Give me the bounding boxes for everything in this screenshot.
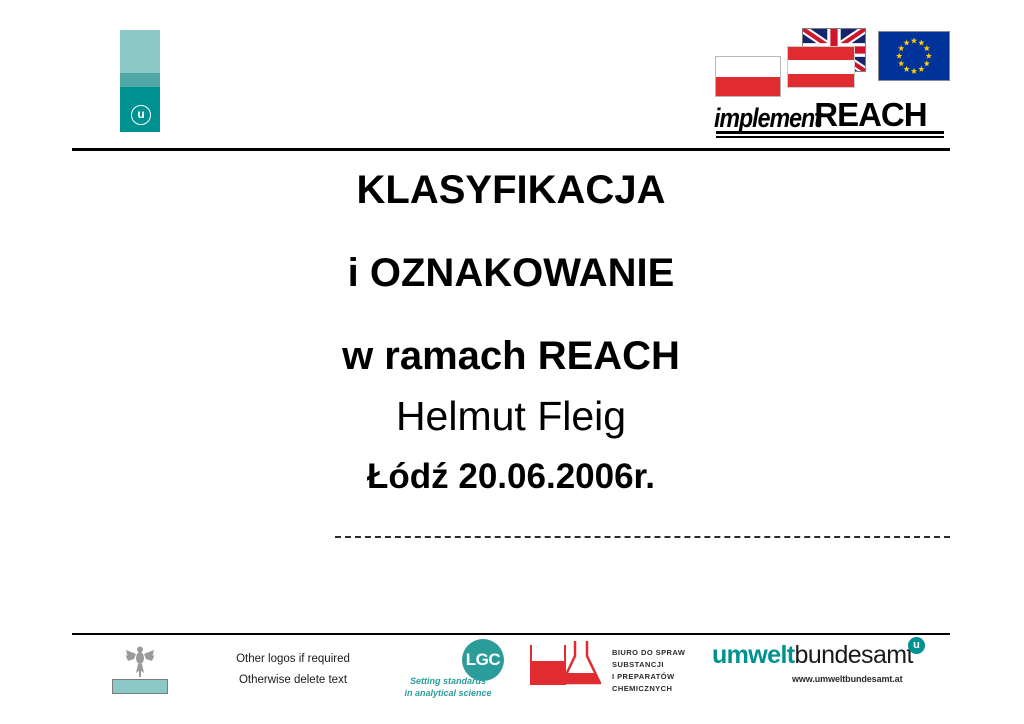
umweltbundesamt-logo-mark: u (120, 30, 160, 132)
biuro-line-1: Biuro do Spraw (612, 647, 722, 659)
uba-badge-icon: u (908, 637, 925, 654)
eagle-svg (125, 645, 155, 679)
slide-title-block: KLASYFIKACJA i OZNAKOWANIE w ramach REAC… (72, 156, 950, 494)
logo-u-badge-icon: u (131, 105, 151, 125)
implement-reach-wordmark: implementREACH (714, 96, 946, 138)
lgc-tagline-line-1: Setting standards (400, 675, 496, 687)
lgc-tagline: Setting standards in analytical science (400, 675, 496, 699)
biuro-logo: Biuro do Spraw Substancji i Preparatów c… (528, 639, 718, 697)
umweltbundesamt-footer-logo: umweltbundesamt u www.umweltbundesamt.at (712, 641, 942, 695)
dashed-separator (335, 536, 950, 538)
biuro-name: Biuro do Spraw Substancji i Preparatów c… (612, 647, 722, 696)
austria-flag-icon (787, 46, 855, 88)
placeholder-line-1: Other logos if required (218, 649, 368, 670)
logo-band-mid (120, 73, 160, 87)
uba-website-url: www.umweltbundesamt.at (792, 674, 902, 684)
eu-flag-icon (878, 31, 950, 81)
title-line-1: KLASYFIKACJA (72, 156, 950, 210)
flask-svg (558, 639, 604, 687)
placeholder-note: Other logos if required Otherwise delete… (218, 649, 368, 692)
eu-flag-svg (879, 32, 949, 80)
lgc-logo: LGC Setting standards in analytical scie… (400, 639, 520, 697)
uba-word-bundesamt: bundesamt (795, 641, 913, 669)
wordmark-underline-upper (716, 131, 944, 134)
austria-emblem-bar (112, 679, 168, 694)
slide-header: u implementREACH (0, 0, 1024, 152)
placeholder-line-2: Otherwise delete text (218, 670, 368, 691)
flask-icon (558, 639, 604, 687)
title-line-3: w ramach REACH (72, 293, 950, 376)
title-line-2: i OZNAKOWANIE (72, 210, 950, 293)
presenter-name: Helmut Fleig (72, 376, 950, 437)
wordmark-implement: implement (714, 103, 821, 134)
poland-flag-red-band (716, 77, 780, 97)
logo-band-light (120, 30, 160, 73)
austria-flag-bottom-band (788, 74, 854, 87)
austria-eagle-icon (124, 645, 156, 679)
lgc-tagline-line-2: in analytical science (400, 687, 496, 699)
biuro-line-3: i Preparatów chemicznych (612, 671, 722, 695)
biuro-line-2: Substancji (612, 659, 722, 671)
slide-footer: Other logos if required Otherwise delete… (0, 635, 1024, 724)
place-and-date: Łódź 20.06.2006r. (72, 437, 950, 494)
wordmark-underline-lower (716, 136, 944, 138)
poland-flag-icon (715, 56, 781, 97)
flag-cluster (712, 28, 952, 96)
header-divider (72, 148, 950, 151)
austria-coat-of-arms-logo (112, 645, 168, 701)
wordmark-reach: REACH (814, 96, 926, 134)
uba-word-umwelt: umwelt (712, 641, 795, 669)
austria-flag-top-band (788, 47, 854, 60)
